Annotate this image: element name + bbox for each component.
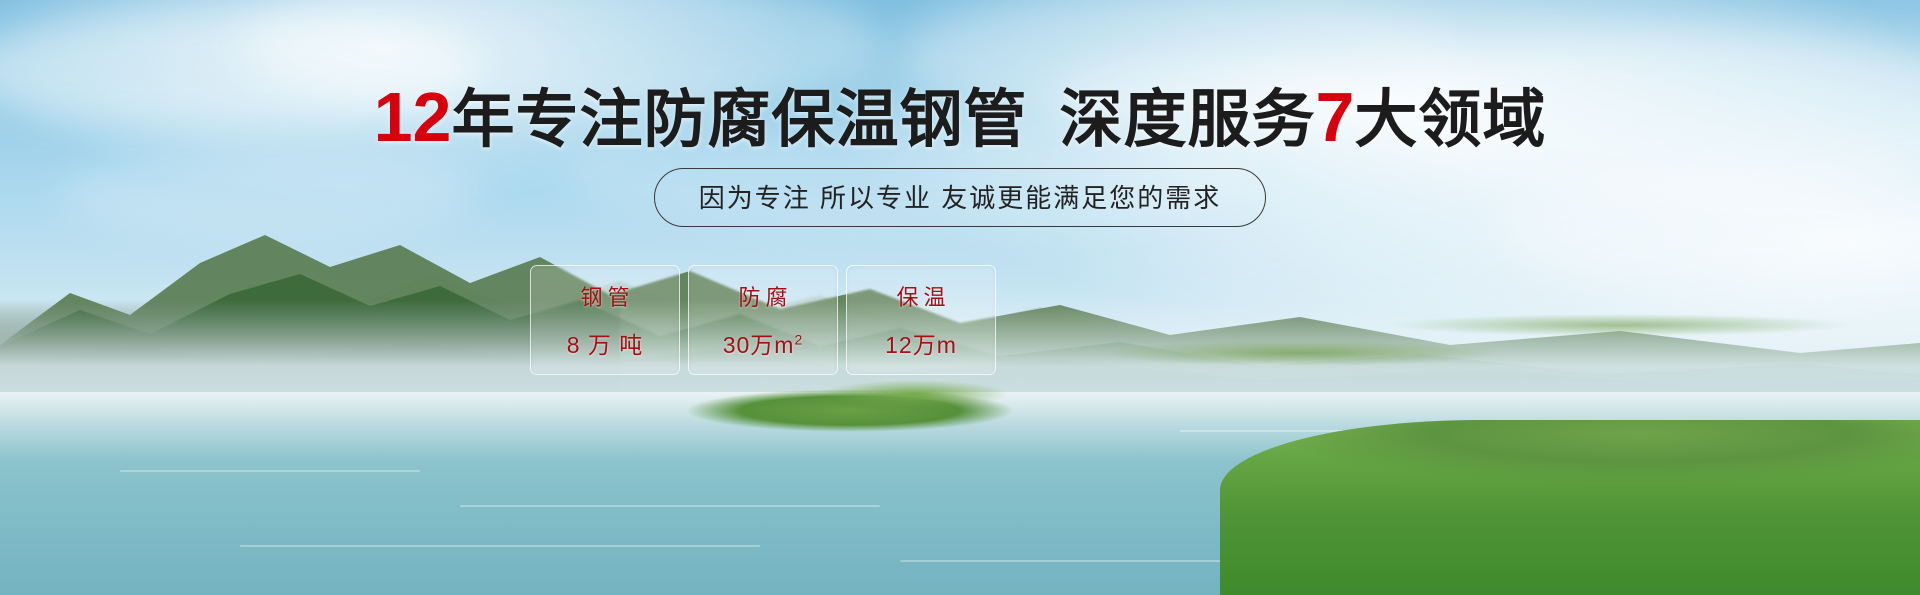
stat-card-value: 12万m	[885, 326, 957, 360]
stat-card-insulation[interactable]: 保温 12万m	[846, 265, 996, 375]
grass-island-top	[790, 372, 1040, 416]
headline-years-number: 12	[374, 78, 452, 156]
stat-card-label: 防腐	[733, 280, 792, 312]
headline-segment-3: 大领域	[1354, 85, 1546, 155]
water-streak	[460, 505, 880, 507]
stat-card-label: 保温	[891, 280, 950, 312]
page-title: 12年专注防腐保温钢管深度服务7大领域	[0, 82, 1920, 152]
stat-card-steel-pipe[interactable]: 钢管 8 万 吨	[530, 265, 680, 375]
stat-value-text: 30万m	[723, 332, 795, 358]
stat-card-label: 钢管	[575, 280, 634, 312]
water-streak	[240, 545, 760, 547]
stat-value-superscript: 2	[794, 331, 803, 347]
stat-card-value: 30万m2	[723, 326, 804, 360]
stat-value-text: 12万m	[885, 332, 957, 358]
headline-highlight-number: 7	[1315, 78, 1354, 156]
headline-segment-2: 深度服务	[1059, 85, 1315, 155]
stat-card-group: 钢管 8 万 吨 防腐 30万m2 保温 12万m	[530, 265, 996, 375]
subtitle-pill: 因为专注 所以专业 友诚更能满足您的需求	[654, 168, 1266, 227]
hero-banner: 12年专注防腐保温钢管深度服务7大领域 因为专注 所以专业 友诚更能满足您的需求…	[0, 0, 1920, 595]
subtitle-container: 因为专注 所以专业 友诚更能满足您的需求	[0, 168, 1920, 227]
stat-card-anticorrosion[interactable]: 防腐 30万m2	[688, 265, 838, 375]
grass-field	[1220, 420, 1920, 595]
stat-card-value: 8 万 吨	[567, 326, 644, 360]
distant-islet	[1040, 330, 1560, 376]
water-streak	[120, 470, 420, 472]
stat-value-text: 8 万 吨	[567, 332, 644, 358]
headline-segment-1: 年专注防腐保温钢管	[451, 85, 1027, 155]
